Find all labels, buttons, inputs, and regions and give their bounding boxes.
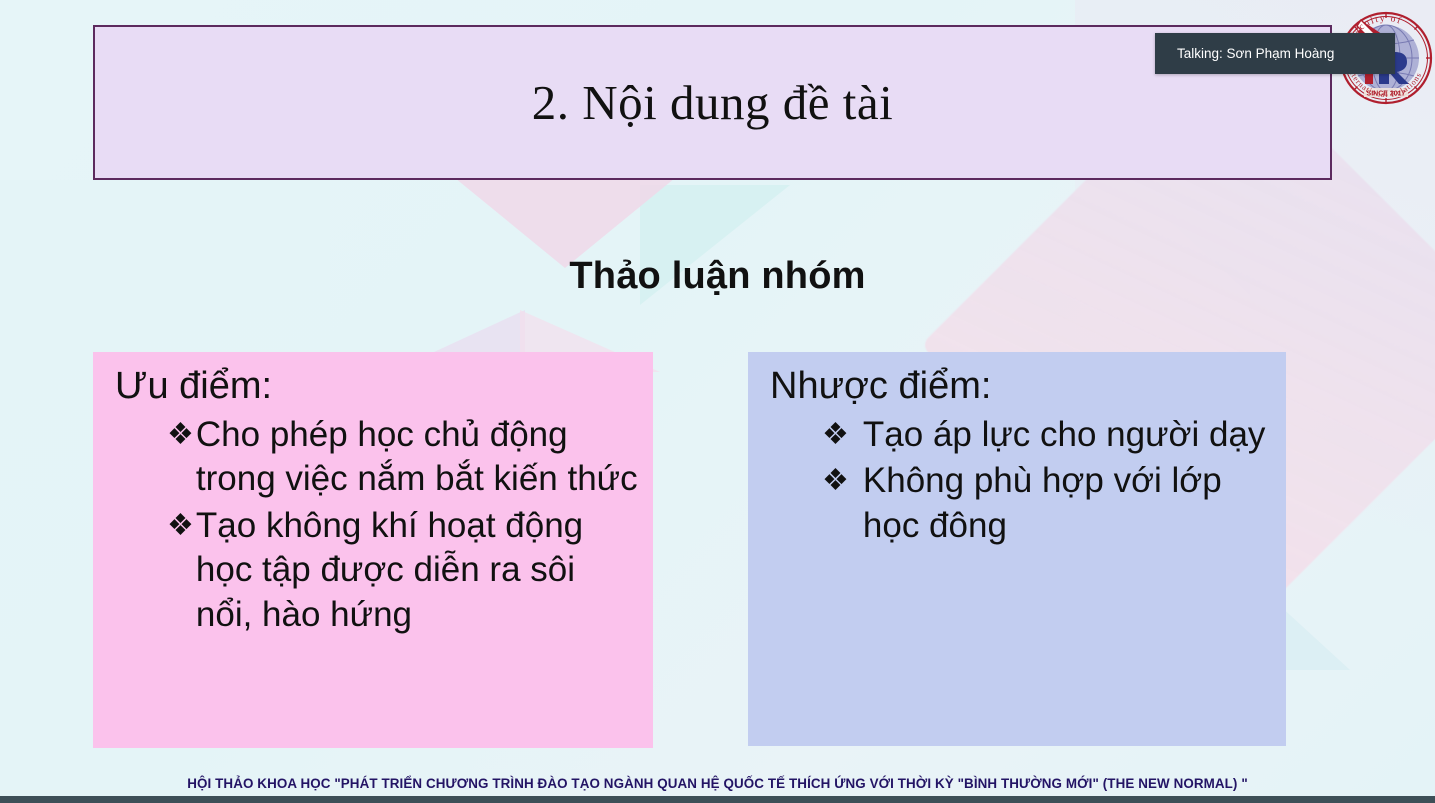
bottom-strip xyxy=(0,796,1435,803)
presentation-slide: 2. Nội dung đề tài xyxy=(0,0,1435,803)
diamond-bullet-icon: ❖ xyxy=(822,413,849,457)
page-title: 2. Nội dung đề tài xyxy=(532,74,893,131)
list-item-text: Tạo áp lực cho người dạy xyxy=(863,413,1274,457)
disadvantages-heading: Nhược điểm: xyxy=(770,366,1274,407)
list-item-text: Tạo không khí hoạt động học tập được diễ… xyxy=(196,504,641,637)
list-item: ❖ Cho phép học chủ động trong việc nắm b… xyxy=(167,413,641,502)
talking-indicator-label: Talking: Sơn Phạm Hoàng xyxy=(1177,46,1334,61)
advantages-heading: Ưu điểm: xyxy=(115,366,641,407)
list-item: ❖ Tạo không khí hoạt động học tập được d… xyxy=(167,504,641,637)
advantages-list: ❖ Cho phép học chủ động trong việc nắm b… xyxy=(167,413,641,637)
advantages-box: Ưu điểm: ❖ Cho phép học chủ động trong v… xyxy=(93,352,653,748)
slide-subtitle: Thảo luận nhóm xyxy=(0,255,1435,298)
diamond-bullet-icon: ❖ xyxy=(167,413,194,457)
list-item: ❖ Tạo áp lực cho người dạy xyxy=(822,413,1274,457)
list-item-text: Không phù hợp với lớp học đông xyxy=(863,459,1274,548)
footer-band: HỘI THẢO KHOA HỌC "PHÁT TRIỂN CHƯƠNG TRÌ… xyxy=(0,769,1435,797)
disadvantages-box: Nhược điểm: ❖ Tạo áp lực cho người dạy ❖… xyxy=(748,352,1286,746)
talking-indicator-badge: Talking: Sơn Phạm Hoàng xyxy=(1155,33,1395,74)
footer-conference-title: HỘI THẢO KHOA HỌC "PHÁT TRIỂN CHƯƠNG TRÌ… xyxy=(187,776,1248,791)
list-item: ❖ Không phù hợp với lớp học đông xyxy=(822,459,1274,548)
disadvantages-list: ❖ Tạo áp lực cho người dạy ❖ Không phù h… xyxy=(822,413,1274,548)
list-item-text: Cho phép học chủ động trong việc nắm bắt… xyxy=(196,413,641,502)
slide-title-box: 2. Nội dung đề tài xyxy=(93,25,1332,180)
diamond-bullet-icon: ❖ xyxy=(167,504,194,548)
diamond-bullet-icon: ❖ xyxy=(822,459,849,503)
